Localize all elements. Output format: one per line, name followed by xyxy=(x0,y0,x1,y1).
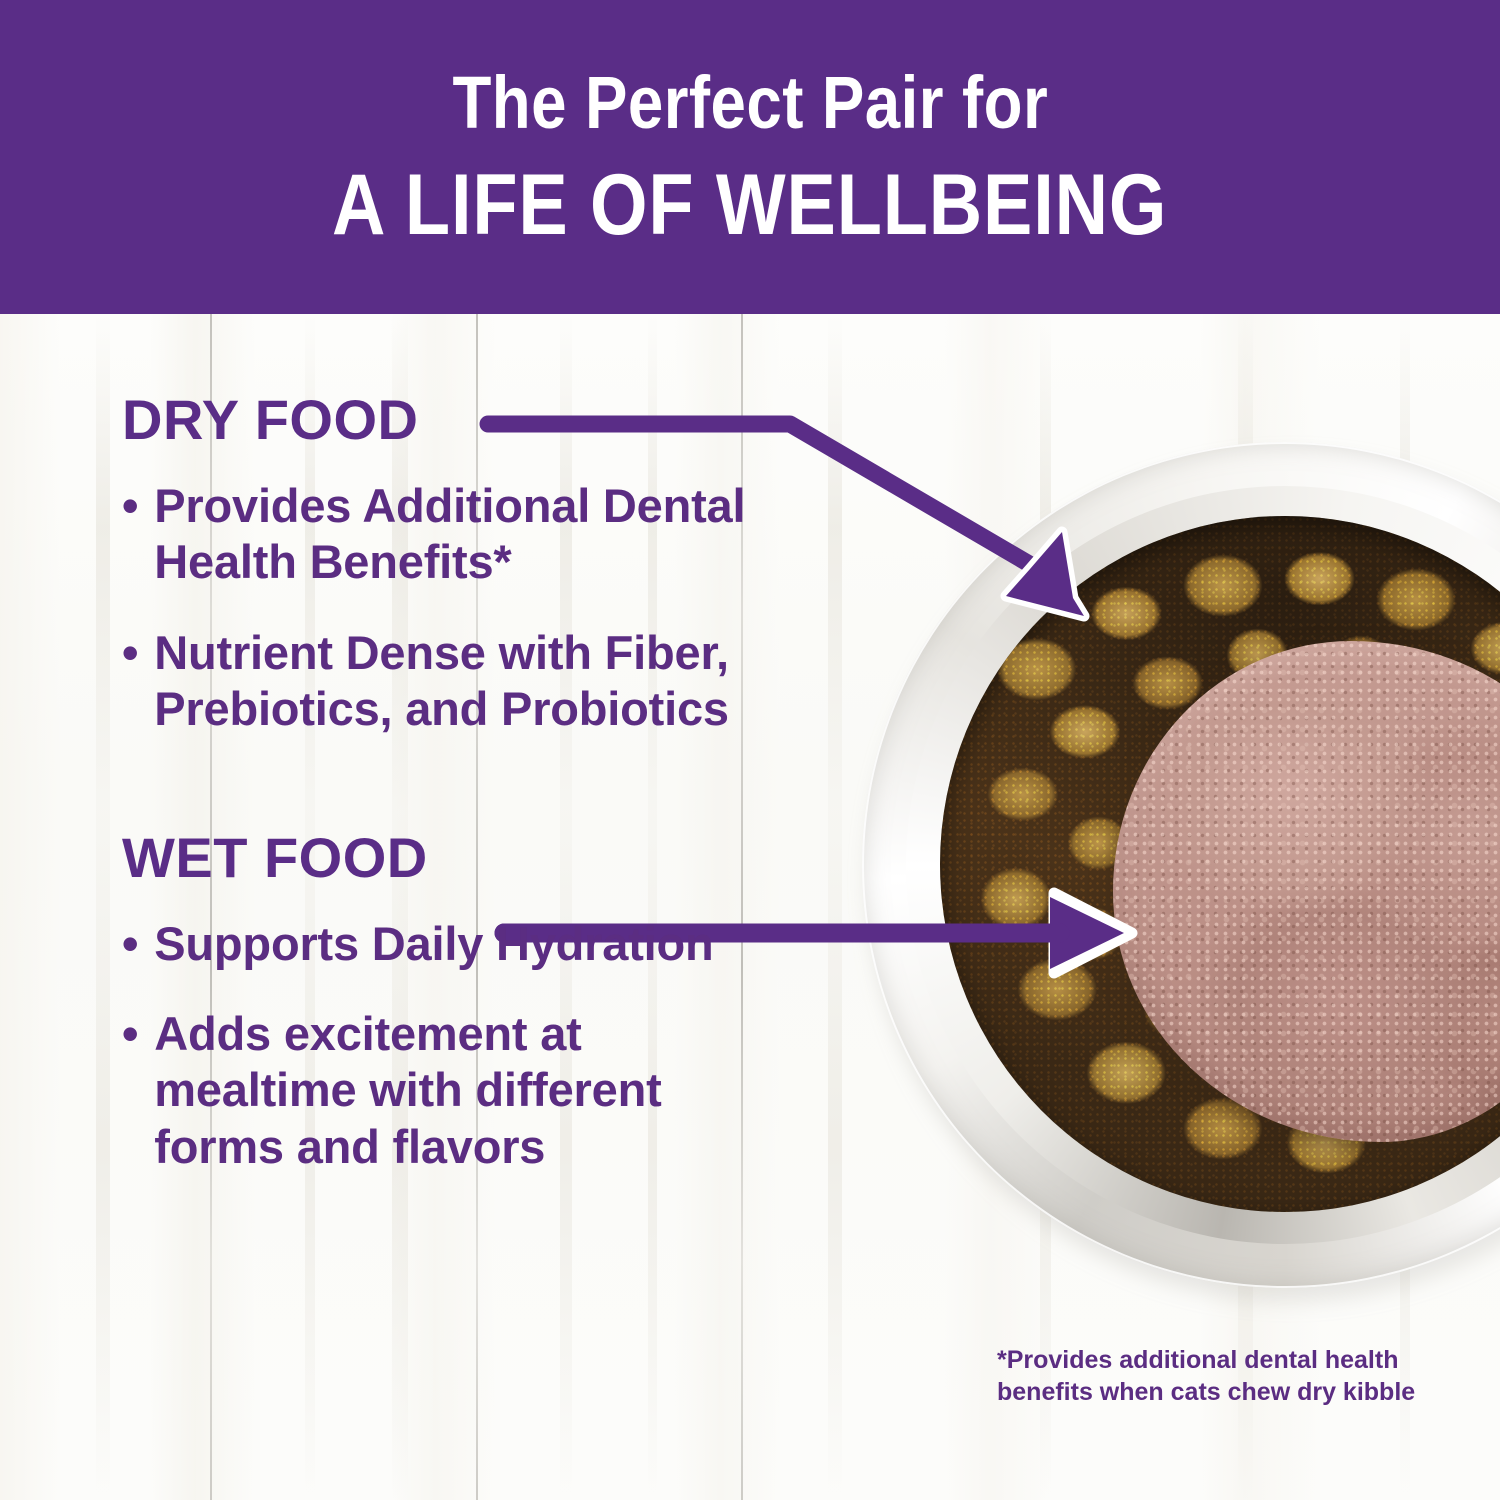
header-banner: The Perfect Pair for A LIFE OF WELLBEING xyxy=(0,0,1500,314)
bullet-item: • Supports Daily Hydration xyxy=(122,916,782,972)
bullet-text: Adds excitement at mealtime with differe… xyxy=(154,1006,782,1175)
bowl-interior xyxy=(940,516,1500,1212)
bowl-outer-rim xyxy=(862,442,1500,1288)
section-wet-food: WET FOOD • Supports Daily Hydration • Ad… xyxy=(122,830,782,1176)
header-title: A LIFE OF WELLBEING xyxy=(332,162,1167,248)
header-subtitle: The Perfect Pair for xyxy=(452,66,1048,140)
bullet-dot-icon: • xyxy=(122,916,138,972)
food-bowl-photo xyxy=(862,442,1500,1302)
section-heading-dry-food: DRY FOOD xyxy=(122,392,782,448)
infographic-canvas: The Perfect Pair for A LIFE OF WELLBEING… xyxy=(0,0,1500,1500)
bullet-list-wet-food: • Supports Daily Hydration • Adds excite… xyxy=(122,916,782,1176)
bullet-text: Nutrient Dense with Fiber, Prebiotics, a… xyxy=(154,625,782,738)
bullet-item: • Provides Additional Dental Health Bene… xyxy=(122,478,782,591)
bullet-list-dry-food: • Provides Additional Dental Health Bene… xyxy=(122,478,782,738)
bullet-text: Supports Daily Hydration xyxy=(154,916,782,972)
footnote-text: *Provides additional dental health benef… xyxy=(997,1344,1427,1408)
bullet-dot-icon: • xyxy=(122,478,138,591)
bullet-item: • Nutrient Dense with Fiber, Prebiotics,… xyxy=(122,625,782,738)
bullet-item: • Adds excitement at mealtime with diffe… xyxy=(122,1006,782,1175)
section-spacer xyxy=(122,772,782,830)
section-heading-wet-food: WET FOOD xyxy=(122,830,782,886)
section-dry-food: DRY FOOD • Provides Additional Dental He… xyxy=(122,392,782,738)
bullet-text: Provides Additional Dental Health Benefi… xyxy=(154,478,782,591)
bullet-dot-icon: • xyxy=(122,625,138,738)
benefits-column: DRY FOOD • Provides Additional Dental He… xyxy=(122,392,782,1209)
bullet-dot-icon: • xyxy=(122,1006,138,1175)
